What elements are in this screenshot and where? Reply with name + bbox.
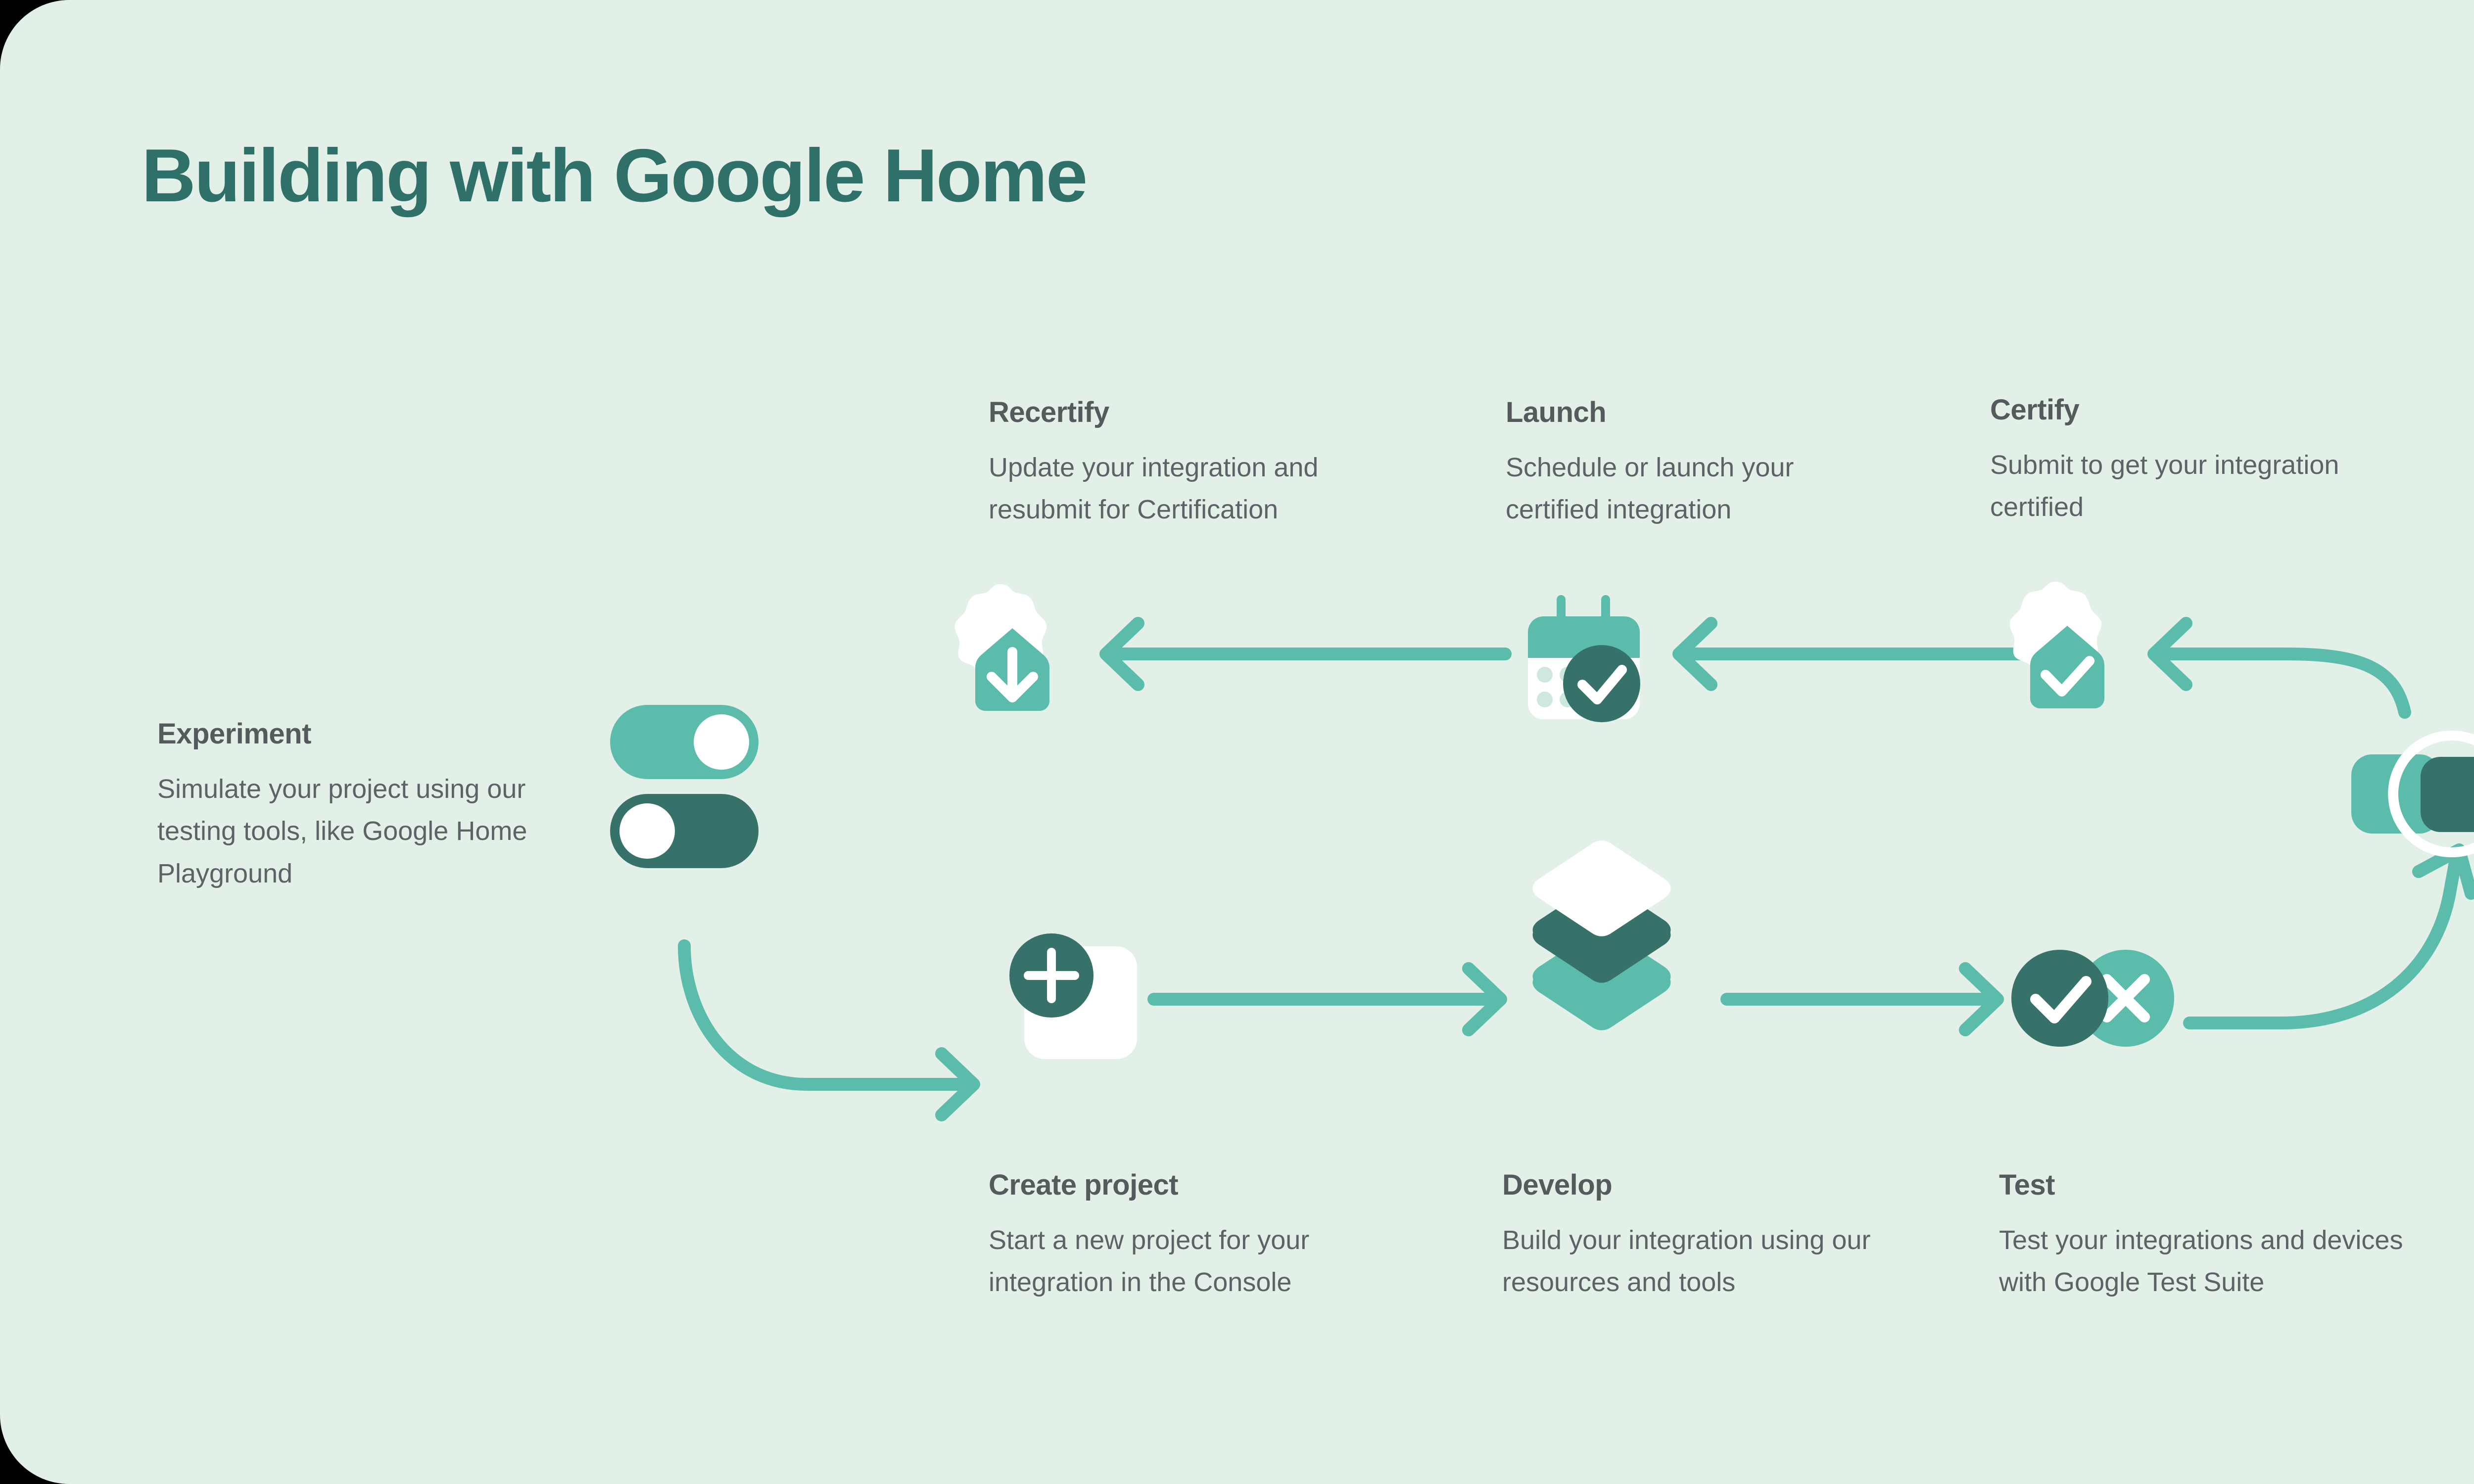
step-develop-heading: Develop — [1502, 1168, 1938, 1202]
connector-develop-to-test — [1727, 969, 1998, 1030]
add-project-card-icon — [1009, 933, 1137, 1059]
step-launch-heading: Launch — [1506, 396, 1882, 429]
connector-launch-to-recertify — [1106, 623, 1505, 685]
recertify-home-glyph — [975, 628, 1049, 711]
connector-experiment-to-create-project — [684, 946, 974, 1115]
page-title: Building with Google Home — [142, 133, 1086, 219]
connector-certify-to-launch — [1679, 623, 2024, 685]
step-experiment: Experiment Simulate your project using o… — [157, 717, 593, 895]
certify-home-glyph — [2030, 626, 2104, 708]
step-experiment-heading: Experiment — [157, 717, 593, 750]
check-cross-circles-icon — [2011, 950, 2174, 1047]
calendar-check-icon — [1528, 600, 1640, 722]
step-recertify-heading: Recertify — [989, 396, 1424, 429]
step-launch: Launch Schedule or launch your certified… — [1506, 396, 1882, 531]
step-test: Test Test your integrations and devices … — [1999, 1168, 2454, 1304]
step-create-project: Create project Start a new project for y… — [989, 1168, 1424, 1304]
step-experiment-body: Simulate your project using our testing … — [157, 768, 593, 895]
connector-field-trial-to-certify — [2154, 623, 2405, 712]
certified-home-badge-icon — [2010, 582, 2102, 676]
step-create-project-heading: Create project — [989, 1168, 1424, 1202]
diagram-canvas: Building with Google Home — [0, 0, 2474, 1484]
step-develop: Develop Build your integration using our… — [1502, 1168, 1938, 1304]
connector-test-to-field-trial — [2189, 850, 2471, 1023]
step-test-heading: Test — [1999, 1168, 2454, 1202]
step-create-project-body: Start a new project for your integration… — [989, 1219, 1424, 1304]
layers-stack-icon — [1533, 840, 1671, 1030]
toggle-switches-icon — [610, 705, 759, 868]
device-pair-circle-icon — [2351, 736, 2474, 852]
step-recertify-body: Update your integration and resubmit for… — [989, 447, 1424, 531]
home-download-badge-icon — [955, 584, 1047, 679]
step-certify: Certify Submit to get your integration c… — [1990, 393, 2356, 529]
connector-create-project-to-develop — [1154, 969, 1501, 1030]
step-certify-body: Submit to get your integration certified — [1990, 444, 2356, 529]
step-certify-heading: Certify — [1990, 393, 2356, 426]
step-develop-body: Build your integration using our resourc… — [1502, 1219, 1938, 1304]
step-recertify: Recertify Update your integration and re… — [989, 396, 1424, 531]
step-test-body: Test your integrations and devices with … — [1999, 1219, 2454, 1304]
step-launch-body: Schedule or launch your certified integr… — [1506, 447, 1882, 531]
